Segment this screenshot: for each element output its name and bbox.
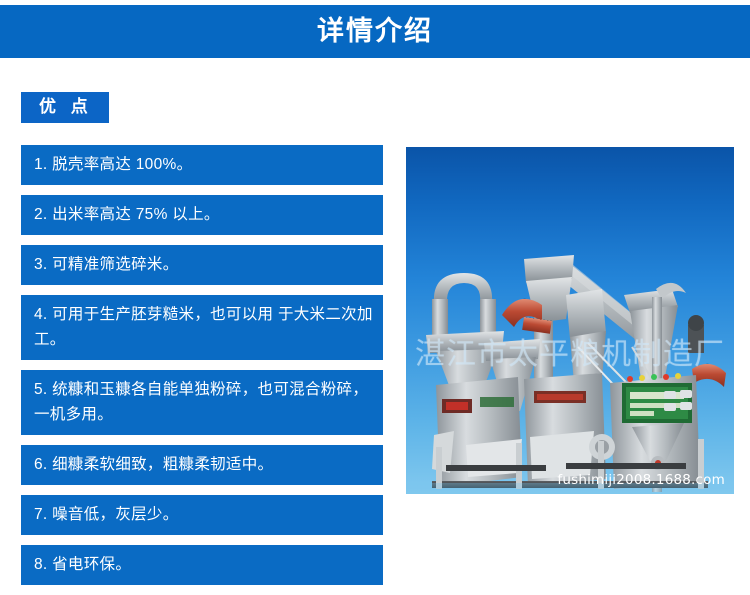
list-item: 7. 噪音低，灰层少。 xyxy=(21,495,383,535)
advantages-panel: 优 点 1. 脱壳率高达 100%。 2. 出米率高达 75% 以上。 3. 可… xyxy=(21,92,383,595)
list-item: 2. 出米率高达 75% 以上。 xyxy=(21,195,383,235)
machinery-illustration xyxy=(406,147,734,494)
list-item: 1. 脱壳率高达 100%。 xyxy=(21,145,383,185)
advantages-section-badge: 优 点 xyxy=(21,92,109,123)
list-item: 4. 可用于生产胚芽糙米，也可以用 于大米二次加工。 xyxy=(21,295,383,360)
list-item: 6. 细糠柔软细致，粗糠柔韧适中。 xyxy=(21,445,383,485)
photo-url-label: fushimiji2008.1688.com xyxy=(557,472,725,488)
page-title: 详情介绍 xyxy=(317,18,433,45)
advantages-list: 1. 脱壳率高达 100%。 2. 出米率高达 75% 以上。 3. 可精准筛选… xyxy=(21,145,383,585)
list-item: 3. 可精准筛选碎米。 xyxy=(21,245,383,285)
list-item: 8. 省电环保。 xyxy=(21,545,383,585)
page-header-banner: 详情介绍 xyxy=(0,5,750,58)
list-item: 5. 统糠和玉糠各自能单独粉碎，也可混合粉碎，一机多用。 xyxy=(21,370,383,435)
product-photo: 湛江市太平粮机制造厂 fushimiji2008.1688.com xyxy=(406,147,734,494)
